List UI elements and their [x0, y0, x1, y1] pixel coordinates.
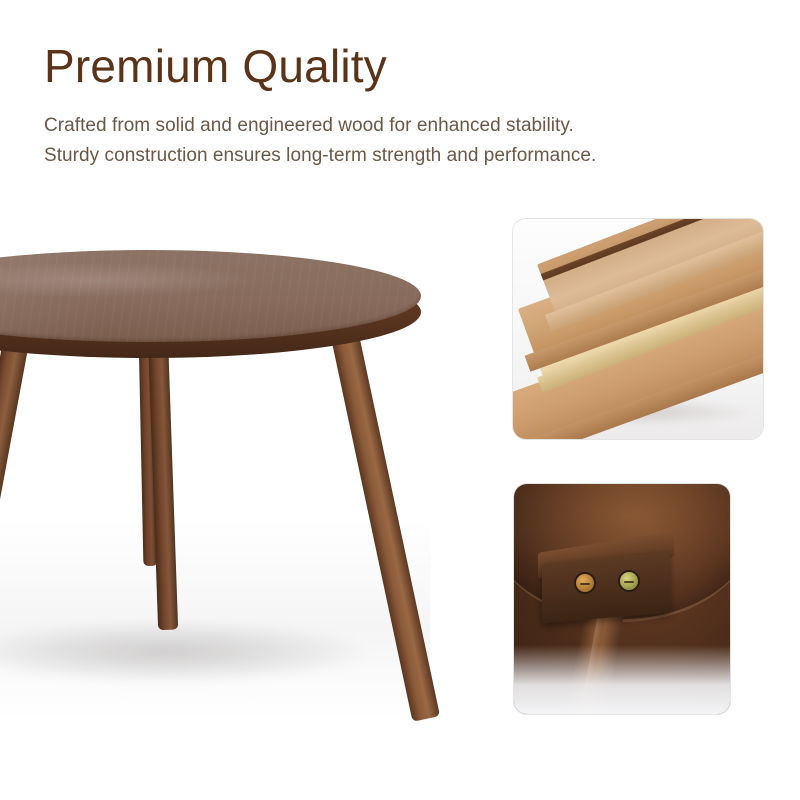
hero-product-image [0, 248, 430, 718]
inset-leg-bracket [513, 483, 731, 715]
subtitle-line-1: Crafted from solid and engineered wood f… [44, 111, 764, 142]
subtitle-line-2: Sturdy construction ensures long-term st… [44, 141, 764, 172]
subtitle-block: Crafted from solid and engineered wood f… [44, 111, 764, 173]
inset-floor-gradient [514, 645, 730, 714]
table-floor-shadow [0, 622, 365, 682]
table-illustration [0, 248, 430, 718]
header: Premium Quality Crafted from solid and e… [44, 42, 764, 172]
product-feature-card: Premium Quality Crafted from solid and e… [0, 0, 800, 800]
mount-screw-copper [574, 572, 596, 594]
wood-boards-scene [513, 219, 763, 439]
floor-gradient [0, 518, 430, 718]
leg-bracket-scene [514, 484, 730, 714]
inset-wood-boards [512, 218, 764, 440]
mounting-block [542, 552, 670, 623]
mount-screw-brass [618, 570, 640, 592]
page-title: Premium Quality [44, 42, 764, 92]
